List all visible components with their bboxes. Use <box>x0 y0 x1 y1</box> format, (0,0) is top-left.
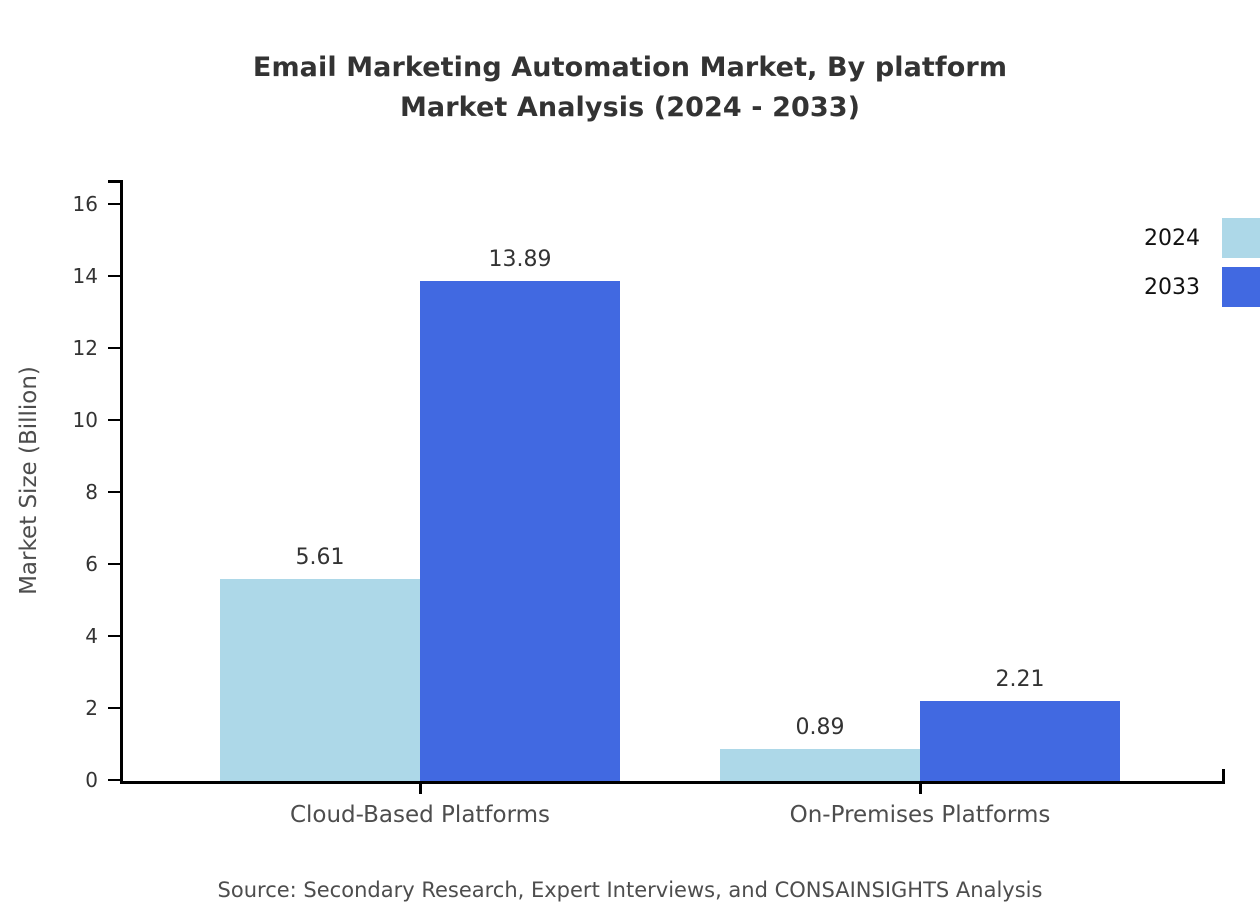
legend-label: 2033 <box>1144 275 1200 300</box>
plot-area: 0246810121416 5.6113.890.892.21 Cloud-Ba… <box>120 180 1225 781</box>
bar-value-label: 2.21 <box>996 667 1045 692</box>
chart-title-line-2: Market Analysis (2024 - 2033) <box>0 88 1260 128</box>
y-axis-tick: 2 <box>108 707 120 709</box>
y-axis-tick-label: 16 <box>73 192 98 216</box>
legend-item-2033[interactable]: 2033 <box>1144 267 1260 307</box>
chart-legend: 20242033 <box>1144 218 1260 307</box>
legend-color-swatch <box>1222 218 1260 258</box>
y-axis-tick: 12 <box>108 347 120 349</box>
y-axis-top-cap <box>108 180 123 183</box>
y-axis-tick: 8 <box>108 491 120 493</box>
x-axis-category-label: Cloud-Based Platforms <box>290 802 550 828</box>
y-axis-tick-label: 14 <box>73 264 98 288</box>
y-axis-tick-label: 0 <box>85 768 98 792</box>
bar-chart-figure: Email Marketing Automation Market, By pl… <box>0 0 1260 920</box>
bar-value-label: 13.89 <box>489 247 552 272</box>
y-axis-tick-label: 6 <box>85 552 98 576</box>
source-note: Source: Secondary Research, Expert Inter… <box>0 878 1260 902</box>
y-axis-tick-label: 2 <box>85 696 98 720</box>
bar-2024-cloud-based-platforms[interactable]: 5.61 <box>220 579 420 781</box>
y-axis-tick-label: 4 <box>85 624 98 648</box>
y-axis-tick: 16 <box>108 203 120 205</box>
y-axis-tick-label: 8 <box>85 480 98 504</box>
y-axis-tick: 0 <box>108 779 120 781</box>
x-axis-end-cap <box>1222 769 1225 784</box>
legend-item-2024[interactable]: 2024 <box>1144 218 1260 258</box>
bar-2033-on-premises-platforms[interactable]: 2.21 <box>920 701 1120 781</box>
x-axis-spine <box>120 781 1225 784</box>
x-axis-tick <box>919 781 922 794</box>
y-axis-tick-label: 12 <box>73 336 98 360</box>
bar-2033-cloud-based-platforms[interactable]: 13.89 <box>420 281 620 781</box>
chart-title: Email Marketing Automation Market, By pl… <box>0 48 1260 128</box>
bar-2024-on-premises-platforms[interactable]: 0.89 <box>720 749 920 781</box>
legend-label: 2024 <box>1144 226 1200 251</box>
x-axis-tick <box>419 781 422 794</box>
chart-title-line-1: Email Marketing Automation Market, By pl… <box>0 48 1260 88</box>
y-axis-tick: 6 <box>108 563 120 565</box>
y-axis-tick: 14 <box>108 275 120 277</box>
x-axis-category-label: On-Premises Platforms <box>790 802 1051 828</box>
y-axis-spine <box>120 180 123 781</box>
legend-color-swatch <box>1222 267 1260 307</box>
bar-value-label: 5.61 <box>296 545 345 570</box>
y-axis-tick-label: 10 <box>73 408 98 432</box>
y-axis-tick: 10 <box>108 419 120 421</box>
bar-value-label: 0.89 <box>796 715 845 740</box>
y-axis-tick: 4 <box>108 635 120 637</box>
y-axis-title: Market Size (Billion) <box>12 180 46 781</box>
